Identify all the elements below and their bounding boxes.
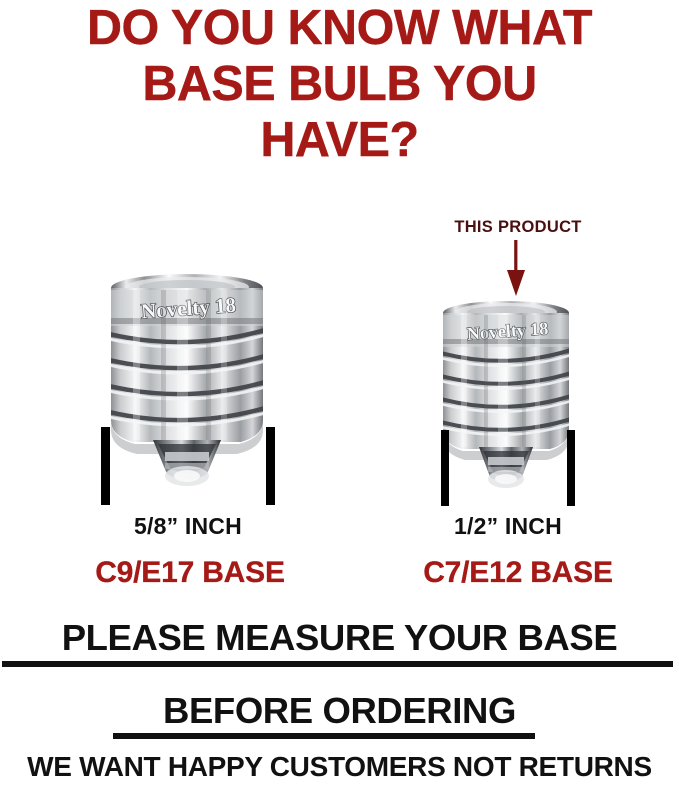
headline-line-1: DO YOU KNOW WHAT <box>3 4 675 53</box>
cta-line-3: WE WANT HAPPY CUSTOMERS NOT RETURNS <box>0 753 679 781</box>
measure-tick-left-end <box>266 427 275 505</box>
measurement-label-right: 1/2” INCH <box>390 513 626 540</box>
bulb-socket-image-right: Novelty 18 <box>436 295 576 491</box>
cta-underline-2 <box>113 733 535 739</box>
base-type-label-right: C7/E12 BASE <box>378 556 658 590</box>
measure-tick-right-end <box>567 430 575 506</box>
headline-line-2: BASE BULB YOU <box>3 60 675 109</box>
cta-underline-1 <box>2 661 673 667</box>
bulb-base-size-guide-poster: DO YOU KNOW WHAT BASE BULB YOU HAVE? THI… <box>0 0 679 786</box>
bulb-socket-image-left: Novelty 18 <box>103 268 271 490</box>
base-type-label-left: C9/E17 BASE <box>50 556 330 590</box>
this-product-label: THIS PRODUCT <box>398 218 638 237</box>
measure-tick-left-start <box>101 427 110 505</box>
headline-line-3: HAVE? <box>3 116 675 165</box>
cta-line-2: BEFORE ORDERING <box>0 693 679 730</box>
cta-line-1: PLEASE MEASURE YOUR BASE <box>0 620 679 657</box>
down-arrow-icon <box>505 240 527 296</box>
measurement-label-left: 5/8” INCH <box>58 513 318 540</box>
measure-tick-right-start <box>441 430 449 506</box>
